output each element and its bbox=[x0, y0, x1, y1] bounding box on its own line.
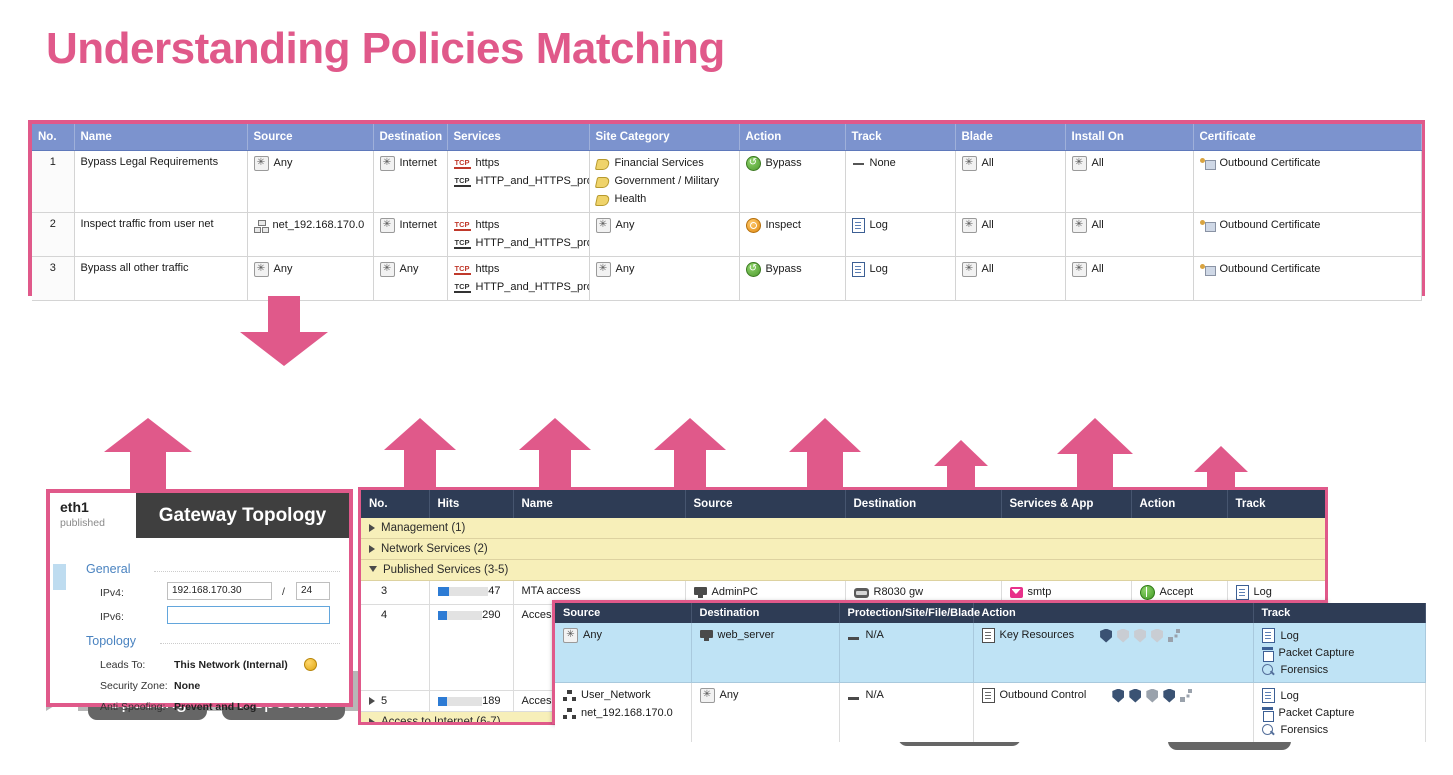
mask-separator: / bbox=[282, 586, 285, 598]
blade-shield-icon-4 bbox=[1163, 689, 1175, 703]
rule-track[interactable]: Log bbox=[845, 257, 955, 301]
host-computer-icon bbox=[700, 630, 713, 641]
anti-spoofing-value: Prevent and Log bbox=[174, 701, 256, 713]
tp-source[interactable]: User_Networknet_192.168.170.0 bbox=[555, 683, 691, 743]
cell-text: Accept bbox=[1160, 585, 1194, 600]
tp-track-label: Log bbox=[1281, 629, 1299, 643]
bypass-icon bbox=[746, 156, 761, 171]
tp-destination[interactable]: web_server bbox=[691, 623, 839, 683]
col-site-category[interactable]: Site Category bbox=[589, 124, 739, 151]
chevron-right-icon[interactable] bbox=[369, 524, 375, 532]
rule-hits[interactable]: 189 bbox=[429, 691, 513, 712]
arrow-rulebase-to-firewall-icon bbox=[380, 418, 460, 490]
col-destination[interactable]: Destination bbox=[373, 124, 447, 151]
rule-number: 2 bbox=[32, 213, 74, 257]
tp-action[interactable]: Key Resources bbox=[973, 623, 1253, 683]
rule-certificate[interactable]: Outbound Certificate bbox=[1193, 213, 1421, 257]
blade-shield-icon-4 bbox=[1151, 629, 1163, 643]
any-icon: ✳ bbox=[1072, 156, 1087, 171]
cell-line: TCPHTTP_and_HTTPS_proxy bbox=[454, 236, 583, 251]
cell-text: Inspect bbox=[766, 218, 801, 233]
col-install-on[interactable]: Install On bbox=[1065, 124, 1193, 151]
blade-indicators bbox=[1100, 629, 1181, 643]
chevron-down-icon[interactable] bbox=[369, 566, 377, 572]
certificate-icon bbox=[1200, 263, 1215, 276]
cell-text: smtp bbox=[1028, 585, 1052, 600]
cell-text: Financial Services bbox=[615, 156, 704, 171]
inspect-icon bbox=[746, 218, 761, 233]
page-title: Understanding Policies Matching bbox=[46, 24, 725, 74]
hits-bar bbox=[438, 587, 489, 596]
policy-row[interactable]: 2Inspect traffic from user netnet_192.16… bbox=[32, 213, 1421, 257]
ipv4-label: IPv4: bbox=[100, 587, 124, 599]
gateway-icon bbox=[854, 588, 869, 598]
cell-text: HTTP_and_HTTPS_proxy bbox=[476, 174, 590, 189]
cell-line: ✳All bbox=[1072, 218, 1187, 233]
ipv4-input[interactable]: 192.168.170.30 bbox=[167, 582, 272, 600]
policy-grid: No. Name Source Destination Services Sit… bbox=[32, 124, 1422, 301]
cell-text: Log bbox=[870, 262, 888, 277]
gateway-topology-panel: eth1 published Gateway Topology General … bbox=[46, 489, 353, 707]
general-section-title: General bbox=[86, 562, 130, 576]
any-icon: ✳ bbox=[563, 628, 578, 643]
tp-track-stack: LogPacket CaptureForensics bbox=[1262, 628, 1417, 677]
cell-text: https bbox=[476, 218, 500, 233]
cell-text: Log bbox=[1254, 585, 1272, 600]
cell-text: Bypass bbox=[766, 262, 802, 277]
threat-prevention-row[interactable]: User_Networknet_192.168.170.0✳AnyN/AOutb… bbox=[555, 683, 1425, 743]
cell-text: User_Network bbox=[581, 688, 651, 703]
col-name[interactable]: Name bbox=[74, 124, 247, 151]
tp-protection[interactable]: N/A bbox=[839, 683, 973, 743]
tcp-service-icon: TCP bbox=[454, 220, 471, 231]
hits-bar bbox=[438, 611, 483, 620]
tcp-service-icon: TCP bbox=[454, 282, 471, 293]
cell-text: Log bbox=[870, 218, 888, 233]
cell-line: smtp bbox=[1010, 585, 1123, 600]
hits-count: 47 bbox=[488, 585, 504, 597]
cell-text: Any bbox=[274, 262, 293, 277]
any-icon: ✳ bbox=[962, 262, 977, 277]
rulebase-section-row[interactable]: Management (1) bbox=[361, 518, 1325, 539]
tp-col-action[interactable]: Action bbox=[973, 603, 1253, 623]
cell-text: net_192.168.170.0 bbox=[273, 218, 365, 233]
hits-count: 290 bbox=[482, 609, 504, 621]
cell-line: web_server bbox=[700, 628, 831, 643]
cell-line: Log bbox=[852, 218, 949, 233]
rulebase-section-row[interactable]: Network Services (2) bbox=[361, 539, 1325, 560]
any-icon: ✳ bbox=[380, 156, 395, 171]
cell-line: net_192.168.170.0 bbox=[563, 706, 683, 721]
any-icon: ✳ bbox=[380, 218, 395, 233]
cell-text: Any bbox=[616, 218, 635, 233]
forensics-icon bbox=[1262, 664, 1275, 677]
rule-number[interactable]: 4 bbox=[361, 605, 429, 691]
tp-track-label: Packet Capture bbox=[1279, 706, 1355, 720]
rb-col-name[interactable]: Name bbox=[513, 490, 685, 518]
rb-col-no[interactable]: No. bbox=[361, 490, 429, 518]
cell-line: TCPhttps bbox=[454, 218, 583, 233]
cell-line: Bypass bbox=[746, 262, 839, 277]
cell-line: ✳All bbox=[1072, 156, 1187, 171]
cell-text: HTTP_and_HTTPS_proxy bbox=[476, 236, 590, 251]
leads-to-label: Leads To: bbox=[100, 659, 145, 671]
cell-text: Any bbox=[616, 262, 635, 277]
cell-line: ✳All bbox=[962, 156, 1059, 171]
rb-col-hits[interactable]: Hits bbox=[429, 490, 513, 518]
rb-col-services[interactable]: Services & App bbox=[1001, 490, 1131, 518]
policy-row[interactable]: 1Bypass Legal Requirements✳Any✳InternetT… bbox=[32, 151, 1421, 213]
tp-track-item: Forensics bbox=[1262, 723, 1417, 737]
chevron-right-icon[interactable] bbox=[369, 718, 375, 725]
cell-line: ✳Any bbox=[700, 688, 831, 703]
forensics-icon bbox=[1262, 724, 1275, 737]
tp-source[interactable]: ✳Any bbox=[555, 623, 691, 683]
cell-line: R8030 gw bbox=[854, 585, 993, 600]
cell-text: All bbox=[1092, 218, 1104, 233]
cell-text: N/A bbox=[866, 688, 884, 703]
ipv4-mask-input[interactable]: 24 bbox=[296, 582, 330, 600]
tp-header-row: Source Destination Protection/Site/File/… bbox=[555, 603, 1425, 623]
cell-text: Bypass bbox=[766, 156, 802, 171]
cell-line: ✳All bbox=[962, 262, 1059, 277]
cell-line: Government / Military bbox=[596, 174, 733, 189]
rule-name[interactable]: Bypass all other traffic bbox=[74, 257, 247, 301]
blade-shield-icon-1 bbox=[1112, 689, 1124, 703]
rule-install-on[interactable]: ✳All bbox=[1065, 213, 1193, 257]
tp-track[interactable]: LogPacket CaptureForensics bbox=[1253, 623, 1425, 683]
rule-services[interactable]: TCPhttpsTCPHTTP_and_HTTPS_proxy bbox=[447, 151, 589, 213]
cell-text: All bbox=[982, 262, 994, 277]
cell-text: https bbox=[476, 262, 500, 277]
tcp-service-icon: TCP bbox=[454, 264, 471, 275]
gateway-panel-title: Gateway Topology bbox=[136, 493, 349, 538]
log-icon bbox=[1236, 585, 1249, 600]
threat-prevention-row[interactable]: ✳Anyweb_serverN/AKey ResourcesLogPacket … bbox=[555, 623, 1425, 683]
cell-text: Outbound Certificate bbox=[1220, 262, 1321, 277]
profile-icon bbox=[982, 628, 995, 643]
cell-line: AdminPC bbox=[694, 585, 837, 600]
blade-shield-icon-3 bbox=[1134, 629, 1146, 643]
tp-track-label: Forensics bbox=[1281, 663, 1329, 677]
anti-spoofing-label: Anti Spoofing: bbox=[100, 701, 165, 713]
section-label[interactable]: Network Services (2) bbox=[361, 539, 1325, 560]
cell-text: Internet bbox=[400, 218, 437, 233]
tp-action-profile: Outbound Control bbox=[982, 688, 1087, 703]
any-icon: ✳ bbox=[254, 156, 269, 171]
cell-line: N/A bbox=[848, 688, 965, 703]
cell-line: Financial Services bbox=[596, 156, 733, 171]
gateway-panel-body: General IPv4: 192.168.170.30 / 24 IPv6: … bbox=[50, 538, 349, 703]
na-icon bbox=[848, 697, 859, 700]
profile-icon bbox=[982, 688, 995, 703]
tp-track-label: Packet Capture bbox=[1279, 646, 1355, 660]
rule-install-on[interactable]: ✳All bbox=[1065, 257, 1193, 301]
rule-blade[interactable]: ✳All bbox=[955, 151, 1065, 213]
gateway-panel-header: eth1 published Gateway Topology bbox=[50, 493, 349, 538]
blades-more-icon bbox=[1168, 629, 1181, 642]
none-icon bbox=[853, 163, 864, 165]
leads-to-value: This Network (Internal) bbox=[174, 659, 288, 671]
cell-text: Outbound Certificate bbox=[1220, 218, 1321, 233]
any-icon: ✳ bbox=[596, 262, 611, 277]
cell-line: TCPHTTP_and_HTTPS_proxy bbox=[454, 174, 583, 189]
cell-line: TCPHTTP_and_HTTPS_proxy bbox=[454, 280, 583, 295]
rule-number[interactable]: 3 bbox=[361, 581, 429, 605]
rule-hits[interactable]: 290 bbox=[429, 605, 513, 691]
na-icon bbox=[848, 637, 859, 640]
cell-line: Health bbox=[596, 192, 733, 207]
rb-col-source[interactable]: Source bbox=[685, 490, 845, 518]
any-icon: ✳ bbox=[1072, 218, 1087, 233]
cell-text: net_192.168.170.0 bbox=[581, 706, 673, 721]
chevron-right-icon[interactable] bbox=[369, 545, 375, 553]
tp-action[interactable]: Outbound Control bbox=[973, 683, 1253, 743]
tp-track-label: Log bbox=[1281, 689, 1299, 703]
cell-text: Key Resources bbox=[1000, 628, 1075, 643]
tp-action-profile: Key Resources bbox=[982, 628, 1075, 643]
section-text: Published Services (3-5) bbox=[383, 564, 508, 576]
hits-bar-wrap: 189 bbox=[438, 695, 505, 707]
section-label[interactable]: Published Services (3-5) bbox=[361, 560, 1325, 581]
rule-action[interactable]: Bypass bbox=[739, 257, 845, 301]
arrow-policy-to-https-icon bbox=[232, 296, 336, 366]
tp-col-destination[interactable]: Destination bbox=[691, 603, 839, 623]
tp-col-source[interactable]: Source bbox=[555, 603, 691, 623]
rule-number-text: 5 bbox=[381, 695, 387, 707]
threat-prevention-rulebase: Source Destination Protection/Site/File/… bbox=[552, 600, 1328, 724]
section-text: Network Services (2) bbox=[381, 543, 488, 555]
rb-col-destination[interactable]: Destination bbox=[845, 490, 1001, 518]
cell-text: All bbox=[982, 156, 994, 171]
policy-row[interactable]: 3Bypass all other traffic✳Any✳AnyTCPhttp… bbox=[32, 257, 1421, 301]
any-icon: ✳ bbox=[962, 156, 977, 171]
rule-name[interactable]: Inspect traffic from user net bbox=[74, 213, 247, 257]
cell-line: Outbound Certificate bbox=[1200, 156, 1415, 171]
rule-track[interactable]: Log bbox=[845, 213, 955, 257]
cell-text: Outbound Control bbox=[1000, 688, 1087, 703]
ipv6-label: IPv6: bbox=[100, 611, 124, 623]
rule-number-text: 4 bbox=[381, 609, 387, 621]
rule-number[interactable]: 5 bbox=[361, 691, 429, 712]
rule-destination[interactable]: ✳Internet bbox=[373, 151, 447, 213]
tp-track-item: Packet Capture bbox=[1262, 706, 1417, 720]
cell-line: ✳Internet bbox=[380, 218, 441, 233]
cell-text: Any bbox=[583, 628, 602, 643]
cell-line: Log bbox=[852, 262, 949, 277]
any-icon: ✳ bbox=[254, 262, 269, 277]
host-computer-icon bbox=[694, 587, 707, 598]
cell-line: ✳Any bbox=[596, 218, 733, 233]
tp-action-wrap: Key Resources bbox=[982, 628, 1245, 643]
section-label[interactable]: Management (1) bbox=[361, 518, 1325, 539]
rb-col-track[interactable]: Track bbox=[1227, 490, 1325, 518]
network-object-icon bbox=[254, 220, 268, 232]
hits-count: 189 bbox=[482, 695, 504, 707]
security-zone-value: None bbox=[174, 680, 200, 692]
cell-line: N/A bbox=[848, 628, 965, 643]
cell-text: AdminPC bbox=[712, 585, 758, 600]
hits-bar bbox=[438, 697, 483, 706]
interface-state: published bbox=[60, 517, 105, 529]
chevron-right-icon[interactable] bbox=[369, 697, 375, 705]
packet-capture-icon bbox=[1262, 707, 1273, 720]
cell-text: All bbox=[1092, 262, 1104, 277]
tp-track-item: Forensics bbox=[1262, 663, 1417, 677]
cell-text: N/A bbox=[866, 628, 884, 643]
cell-line: net_192.168.170.0 bbox=[254, 218, 367, 233]
bypass-icon bbox=[746, 262, 761, 277]
rule-install-on[interactable]: ✳All bbox=[1065, 151, 1193, 213]
tp-track-item: Packet Capture bbox=[1262, 646, 1417, 660]
cell-line: ✳Any bbox=[254, 262, 367, 277]
category-tag-icon bbox=[596, 158, 610, 170]
cell-text: HTTP_and_HTTPS_proxy bbox=[476, 280, 590, 295]
hits-bar-wrap: 47 bbox=[438, 585, 505, 597]
log-icon bbox=[1262, 628, 1275, 643]
rule-source[interactable]: ✳Any bbox=[247, 257, 373, 301]
ipv6-input[interactable] bbox=[167, 606, 330, 624]
col-services[interactable]: Services bbox=[447, 124, 589, 151]
cell-line: ✳Internet bbox=[380, 156, 441, 171]
tp-destination[interactable]: ✳Any bbox=[691, 683, 839, 743]
log-icon bbox=[852, 218, 865, 233]
topology-section-title: Topology bbox=[86, 634, 136, 648]
rb-col-action[interactable]: Action bbox=[1131, 490, 1227, 518]
cell-line: ✳All bbox=[1072, 262, 1187, 277]
rule-number: 3 bbox=[32, 257, 74, 301]
cell-line: None bbox=[852, 156, 949, 171]
cell-text: Government / Military bbox=[615, 174, 720, 189]
blade-indicators bbox=[1112, 689, 1193, 703]
rule-number-text: 3 bbox=[381, 585, 387, 597]
cell-text: R8030 gw bbox=[874, 585, 924, 600]
col-certificate[interactable]: Certificate bbox=[1193, 124, 1421, 151]
tp-track-stack: LogPacket CaptureForensics bbox=[1262, 688, 1417, 737]
rule-blade[interactable]: ✳All bbox=[955, 257, 1065, 301]
rule-hits[interactable]: 47 bbox=[429, 581, 513, 605]
certificate-icon bbox=[1200, 157, 1215, 170]
cell-line: ✳Any bbox=[380, 262, 441, 277]
rule-destination[interactable]: ✳Internet bbox=[373, 213, 447, 257]
rulebase-section-row[interactable]: Published Services (3-5) bbox=[361, 560, 1325, 581]
https-inspection-policy-table: No. Name Source Destination Services Sit… bbox=[28, 120, 1425, 296]
any-icon: ✳ bbox=[380, 262, 395, 277]
cell-line: Bypass bbox=[746, 156, 839, 171]
cell-text: Outbound Certificate bbox=[1220, 156, 1321, 171]
rule-source[interactable]: net_192.168.170.0 bbox=[247, 213, 373, 257]
cell-line: Accept bbox=[1140, 585, 1219, 600]
col-blade[interactable]: Blade bbox=[955, 124, 1065, 151]
rule-site-category[interactable]: Financial ServicesGovernment / MilitaryH… bbox=[589, 151, 739, 213]
rule-services[interactable]: TCPhttpsTCPHTTP_and_HTTPS_proxy bbox=[447, 257, 589, 301]
tp-track-item: Log bbox=[1262, 688, 1417, 703]
rule-action[interactable]: Inspect bbox=[739, 213, 845, 257]
cell-text: All bbox=[1092, 156, 1104, 171]
cell-line: ✳Any bbox=[563, 628, 683, 643]
col-track[interactable]: Track bbox=[845, 124, 955, 151]
rule-services[interactable]: TCPhttpsTCPHTTP_and_HTTPS_proxy bbox=[447, 213, 589, 257]
blade-shield-icon-2 bbox=[1129, 689, 1141, 703]
col-no[interactable]: No. bbox=[32, 124, 74, 151]
tp-protection[interactable]: N/A bbox=[839, 623, 973, 683]
category-tag-icon bbox=[596, 176, 610, 188]
cell-line: Outbound Certificate bbox=[1200, 262, 1415, 277]
arrow-rulebase-to-urlf-icon bbox=[650, 418, 730, 490]
blade-shield-icon-2 bbox=[1117, 629, 1129, 643]
interface-name: eth1 bbox=[60, 499, 89, 515]
tp-track-item: Log bbox=[1262, 628, 1417, 643]
any-icon: ✳ bbox=[1072, 262, 1087, 277]
rule-track[interactable]: None bbox=[845, 151, 955, 213]
cell-text: https bbox=[476, 156, 500, 171]
col-action[interactable]: Action bbox=[739, 124, 845, 151]
cell-text: web_server bbox=[718, 628, 775, 643]
log-icon bbox=[852, 262, 865, 277]
bulb-icon bbox=[304, 658, 317, 671]
any-icon: ✳ bbox=[962, 218, 977, 233]
hits-bar-wrap: 290 bbox=[438, 609, 505, 621]
blade-shield-icon-1 bbox=[1100, 629, 1112, 643]
cell-line: ✳All bbox=[962, 218, 1059, 233]
cell-text: Any bbox=[720, 688, 739, 703]
packet-capture-icon bbox=[1262, 647, 1273, 660]
cell-text: Health bbox=[615, 192, 647, 207]
any-icon: ✳ bbox=[596, 218, 611, 233]
rule-blade[interactable]: ✳All bbox=[955, 213, 1065, 257]
cell-text: Any bbox=[274, 156, 293, 171]
general-divider bbox=[154, 571, 340, 572]
tp-col-protection[interactable]: Protection/Site/File/Blade bbox=[839, 603, 973, 623]
cell-line: Outbound Certificate bbox=[1200, 218, 1415, 233]
tp-action-wrap: Outbound Control bbox=[982, 688, 1245, 703]
cell-line: TCPhttps bbox=[454, 262, 583, 277]
col-source[interactable]: Source bbox=[247, 124, 373, 151]
cell-line: ✳Any bbox=[596, 262, 733, 277]
log-icon bbox=[1262, 688, 1275, 703]
topology-divider bbox=[160, 643, 340, 644]
tab-indicator[interactable] bbox=[53, 564, 66, 590]
cell-line: Log bbox=[1236, 585, 1317, 600]
cell-text: Internet bbox=[400, 156, 437, 171]
cell-line: User_Network bbox=[563, 688, 683, 703]
arrow-rulebase-to-apcl-icon bbox=[515, 418, 595, 490]
tcp-service-icon: TCP bbox=[454, 158, 471, 169]
rule-action[interactable]: Bypass bbox=[739, 151, 845, 213]
policy-header-row: No. Name Source Destination Services Sit… bbox=[32, 124, 1421, 151]
tp-track[interactable]: LogPacket CaptureForensics bbox=[1253, 683, 1425, 743]
threat-prevention-grid: Source Destination Protection/Site/File/… bbox=[555, 603, 1426, 742]
tp-col-track[interactable]: Track bbox=[1253, 603, 1425, 623]
section-text: Management (1) bbox=[381, 522, 465, 534]
cell-line: Inspect bbox=[746, 218, 839, 233]
cell-text: Any bbox=[400, 262, 419, 277]
smtp-mail-icon bbox=[1010, 587, 1023, 598]
rule-destination[interactable]: ✳Any bbox=[373, 257, 447, 301]
rule-name[interactable]: Bypass Legal Requirements bbox=[74, 151, 247, 213]
rule-site-category[interactable]: ✳Any bbox=[589, 213, 739, 257]
tcp-service-icon: TCP bbox=[454, 176, 471, 187]
accept-icon bbox=[1140, 585, 1155, 600]
rule-site-category[interactable]: ✳Any bbox=[589, 257, 739, 301]
rule-certificate[interactable]: Outbound Certificate bbox=[1193, 151, 1421, 213]
rule-number: 1 bbox=[32, 151, 74, 213]
blades-more-icon bbox=[1180, 689, 1193, 702]
rule-certificate[interactable]: Outbound Certificate bbox=[1193, 257, 1421, 301]
rule-source[interactable]: ✳Any bbox=[247, 151, 373, 213]
tcp-service-icon: TCP bbox=[454, 238, 471, 249]
network-group-icon bbox=[563, 690, 576, 702]
